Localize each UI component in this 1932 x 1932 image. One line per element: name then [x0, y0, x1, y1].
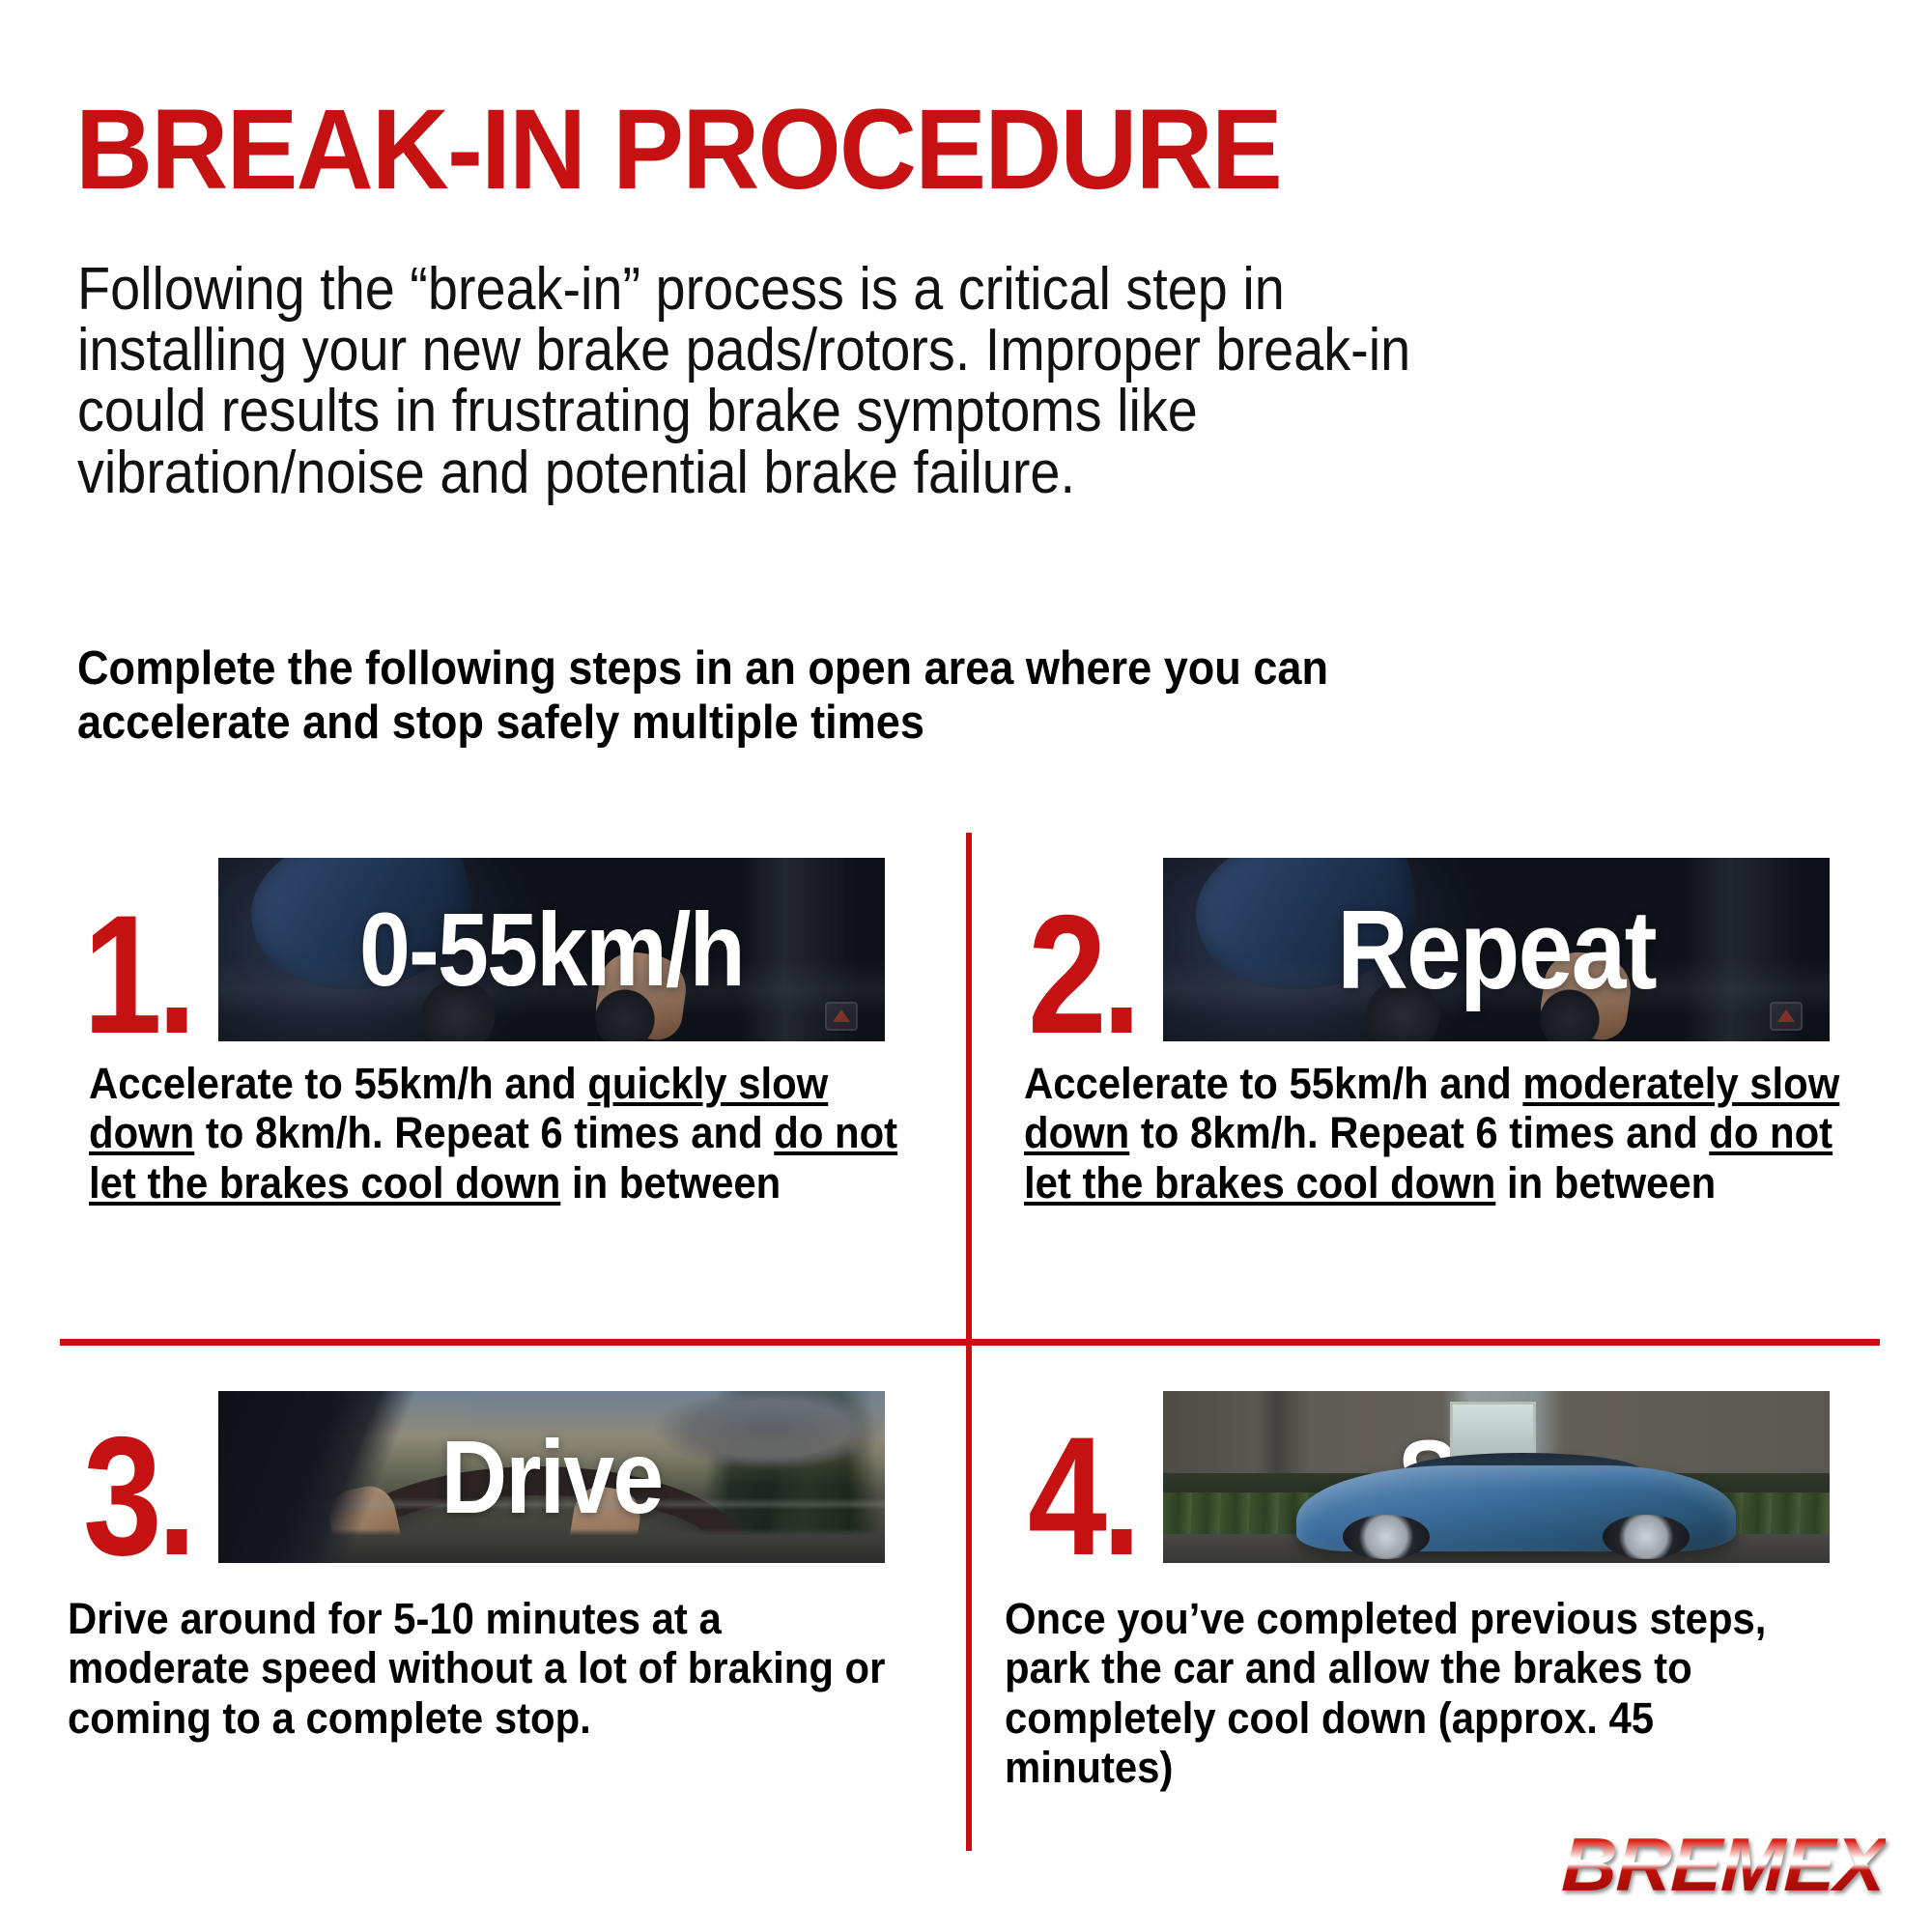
bremex-logo: BREMEX	[1560, 1821, 1886, 1909]
step-1-description: Accelerate to 55km/h and quickly slow do…	[89, 1059, 916, 1207]
plain-text: to 8km/h. Repeat 6 times and	[194, 1108, 774, 1157]
step-3-description: Drive around for 5-10 minutes at a moder…	[68, 1594, 895, 1743]
step-number-1: 1.	[83, 910, 192, 1042]
step-1-photo-label: 0-55km/h	[258, 858, 844, 1041]
step-number-4: 4.	[1028, 1432, 1137, 1564]
plain-text: Drive around for 5-10 minutes at a moder…	[68, 1594, 885, 1743]
infographic-page: BREAK-IN PROCEDURE Following the “break-…	[0, 0, 1932, 1932]
step-card-4: 4. Stop Once you’ve completed previous s…	[1005, 1352, 1922, 1855]
step-4-description: Once you’ve completed previous steps, pa…	[1005, 1594, 1832, 1792]
page-title: BREAK-IN PROCEDURE	[75, 93, 1281, 207]
step-3-photo: Drive	[218, 1391, 885, 1563]
intro-paragraph: Following the “break-in” process is a cr…	[77, 259, 1434, 503]
step-card-3: 3. Drive Drive around for 5-10 minutes a…	[60, 1352, 978, 1855]
plain-text: in between	[560, 1158, 781, 1207]
plain-text: Once you’ve completed previous steps, pa…	[1005, 1594, 1766, 1792]
subheading-instruction: Complete the following steps in an open …	[77, 642, 1463, 751]
step-4-top: 4. Stop	[1005, 1352, 1922, 1563]
steps-grid: 1. 0-55km/h Accelerate to 55km/h and qui…	[0, 831, 1932, 1855]
step-card-1: 1. 0-55km/h Accelerate to 55km/h and qui…	[60, 831, 978, 1333]
step-card-2: 2. Repeat Accelerate to 55km/h and moder…	[1005, 831, 1922, 1333]
step-2-photo: Repeat	[1163, 858, 1830, 1041]
step-1-top: 1. 0-55km/h	[60, 831, 978, 1041]
plain-text: Accelerate to 55km/h and	[89, 1059, 587, 1108]
step-3-top: 3. Drive	[60, 1352, 978, 1563]
step-2-photo-label: Repeat	[1203, 858, 1789, 1041]
plain-text: Accelerate to 55km/h and	[1024, 1059, 1522, 1108]
step-2-description: Accelerate to 55km/h and moderately slow…	[1024, 1059, 1851, 1207]
step-1-photo: 0-55km/h	[218, 858, 885, 1041]
plain-text: to 8km/h. Repeat 6 times and	[1129, 1108, 1709, 1157]
step-2-top: 2. Repeat	[1005, 831, 1922, 1041]
step-3-photo-label: Drive	[258, 1391, 844, 1563]
step-4-photo: Stop	[1163, 1391, 1830, 1563]
plain-text: in between	[1495, 1158, 1716, 1207]
step-number-3: 3.	[83, 1432, 192, 1564]
step-number-2: 2.	[1028, 910, 1137, 1042]
